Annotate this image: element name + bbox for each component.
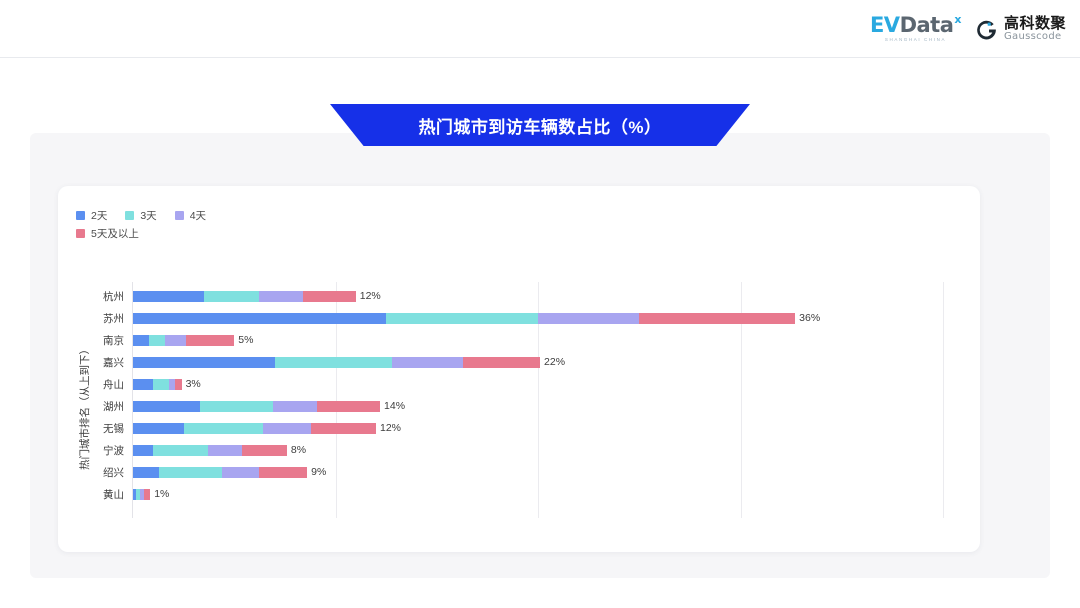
bar-segment[interactable] — [259, 467, 308, 478]
legend-swatch-icon — [175, 211, 184, 220]
y-axis-tick-label: 嘉兴 — [58, 352, 124, 374]
bar-segment[interactable] — [153, 379, 169, 390]
y-axis-tick-label: 无锡 — [58, 418, 124, 440]
legend-label: 3天 — [140, 208, 156, 223]
bar-segment[interactable] — [263, 423, 312, 434]
chart-row[interactable]: 无锡12% — [58, 418, 980, 440]
stacked-bar[interactable] — [133, 445, 287, 456]
chart-row[interactable]: 嘉兴22% — [58, 352, 980, 374]
gausscode-text: 高科数聚 Gausscode — [1004, 16, 1066, 42]
gausscode-mark-icon — [975, 18, 998, 41]
stacked-bar[interactable] — [133, 335, 234, 346]
bar-segment[interactable] — [144, 489, 150, 500]
bar-segment[interactable] — [133, 467, 159, 478]
evdata-logo-rest: Data — [900, 15, 954, 36]
slide-root: EVDatax shanghai china 高科数聚 Gausscode 热门… — [0, 0, 1080, 608]
legend-label: 2天 — [91, 208, 107, 223]
bar-value-label: 36% — [799, 313, 820, 324]
bar-segment[interactable] — [186, 335, 235, 346]
bar-value-label: 1% — [154, 489, 169, 500]
legend-item-4[interactable]: 5天及以上 — [76, 226, 416, 240]
bar-segment[interactable] — [275, 357, 392, 368]
legend-swatch-icon — [125, 211, 134, 220]
evdata-logo: EVDatax shanghai china — [870, 15, 961, 43]
page-title: 热门城市到访车辆数占比（%） — [330, 104, 750, 146]
stacked-bar[interactable] — [133, 357, 540, 368]
bar-segment[interactable] — [153, 445, 208, 456]
chart-bars: 杭州12%苏州36%南京5%嘉兴22%舟山3%湖州14%无锡12%宁波8%绍兴9… — [58, 282, 980, 518]
chart-plot-area: 热门城市排名（从上到下） 杭州12%苏州36%南京5%嘉兴22%舟山3%湖州14… — [58, 282, 980, 518]
bar-segment[interactable] — [133, 423, 184, 434]
chart-row[interactable]: 绍兴9% — [58, 462, 980, 484]
gausscode-logo: 高科数聚 Gausscode — [975, 16, 1066, 42]
y-axis-tick-label: 绍兴 — [58, 462, 124, 484]
bar-segment[interactable] — [133, 291, 204, 302]
y-axis-tick-label: 南京 — [58, 330, 124, 352]
stacked-bar[interactable] — [133, 379, 182, 390]
bar-segment[interactable] — [317, 401, 380, 412]
chart-card: 2天3天4天5天及以上 热门城市排名（从上到下） 杭州12%苏州36%南京5%嘉… — [58, 186, 980, 552]
chart-row[interactable]: 舟山3% — [58, 374, 980, 396]
stacked-bar[interactable] — [133, 489, 150, 500]
bar-segment[interactable] — [204, 291, 259, 302]
bar-segment[interactable] — [222, 467, 258, 478]
bar-segment[interactable] — [165, 335, 185, 346]
legend-label: 5天及以上 — [91, 226, 139, 241]
evdata-wordmark: EVDatax — [870, 15, 961, 36]
bar-value-label: 5% — [238, 335, 253, 346]
chart-row[interactable]: 南京5% — [58, 330, 980, 352]
bar-segment[interactable] — [133, 357, 275, 368]
evdata-logo-tagline: shanghai china — [885, 38, 946, 43]
bar-segment[interactable] — [311, 423, 376, 434]
chart-row[interactable]: 苏州36% — [58, 308, 980, 330]
header-logo-bar: EVDatax shanghai china 高科数聚 Gausscode — [870, 12, 1066, 46]
legend-item-3[interactable]: 4天 — [175, 208, 206, 222]
bar-value-label: 9% — [311, 467, 326, 478]
y-axis-tick-label: 苏州 — [58, 308, 124, 330]
bar-segment[interactable] — [175, 379, 182, 390]
legend-item-2[interactable]: 3天 — [125, 208, 156, 222]
bar-segment[interactable] — [133, 445, 153, 456]
bar-segment[interactable] — [386, 313, 538, 324]
bar-segment[interactable] — [149, 335, 165, 346]
bar-value-label: 12% — [360, 291, 381, 302]
bar-segment[interactable] — [463, 357, 540, 368]
bar-segment[interactable] — [133, 401, 200, 412]
bar-segment[interactable] — [639, 313, 795, 324]
chart-row[interactable]: 宁波8% — [58, 440, 980, 462]
chart-legend: 2天3天4天5天及以上 — [76, 208, 416, 240]
bar-segment[interactable] — [159, 467, 222, 478]
gausscode-english-name: Gausscode — [1004, 32, 1066, 43]
bar-value-label: 14% — [384, 401, 405, 412]
bar-segment[interactable] — [133, 379, 153, 390]
stacked-bar[interactable] — [133, 423, 376, 434]
y-axis-tick-label: 湖州 — [58, 396, 124, 418]
legend-label: 4天 — [190, 208, 206, 223]
stacked-bar[interactable] — [133, 401, 380, 412]
chart-row[interactable]: 黄山1% — [58, 484, 980, 506]
stacked-bar[interactable] — [133, 313, 795, 324]
bar-segment[interactable] — [303, 291, 356, 302]
evdata-logo-superscript: x — [954, 14, 961, 25]
bar-segment[interactable] — [273, 401, 318, 412]
bar-value-label: 8% — [291, 445, 306, 456]
bar-segment[interactable] — [392, 357, 463, 368]
chart-row[interactable]: 湖州14% — [58, 396, 980, 418]
bar-segment[interactable] — [184, 423, 263, 434]
bar-segment[interactable] — [200, 401, 273, 412]
y-axis-tick-label: 宁波 — [58, 440, 124, 462]
bar-segment[interactable] — [133, 335, 149, 346]
stacked-bar[interactable] — [133, 467, 307, 478]
bar-segment[interactable] — [242, 445, 287, 456]
chart-row[interactable]: 杭州12% — [58, 286, 980, 308]
evdata-logo-prefix: EV — [870, 15, 900, 36]
y-axis-tick-label: 舟山 — [58, 374, 124, 396]
y-axis-tick-label: 黄山 — [58, 484, 124, 506]
bar-segment[interactable] — [208, 445, 242, 456]
gausscode-chinese-name: 高科数聚 — [1004, 16, 1066, 32]
bar-value-label: 22% — [544, 357, 565, 368]
y-axis-tick-label: 杭州 — [58, 286, 124, 308]
header-divider — [0, 57, 1080, 58]
stacked-bar[interactable] — [133, 291, 356, 302]
bar-segment[interactable] — [259, 291, 304, 302]
bar-segment[interactable] — [538, 313, 639, 324]
bar-segment[interactable] — [133, 313, 386, 324]
bar-value-label: 3% — [186, 379, 201, 390]
bar-value-label: 12% — [380, 423, 401, 434]
